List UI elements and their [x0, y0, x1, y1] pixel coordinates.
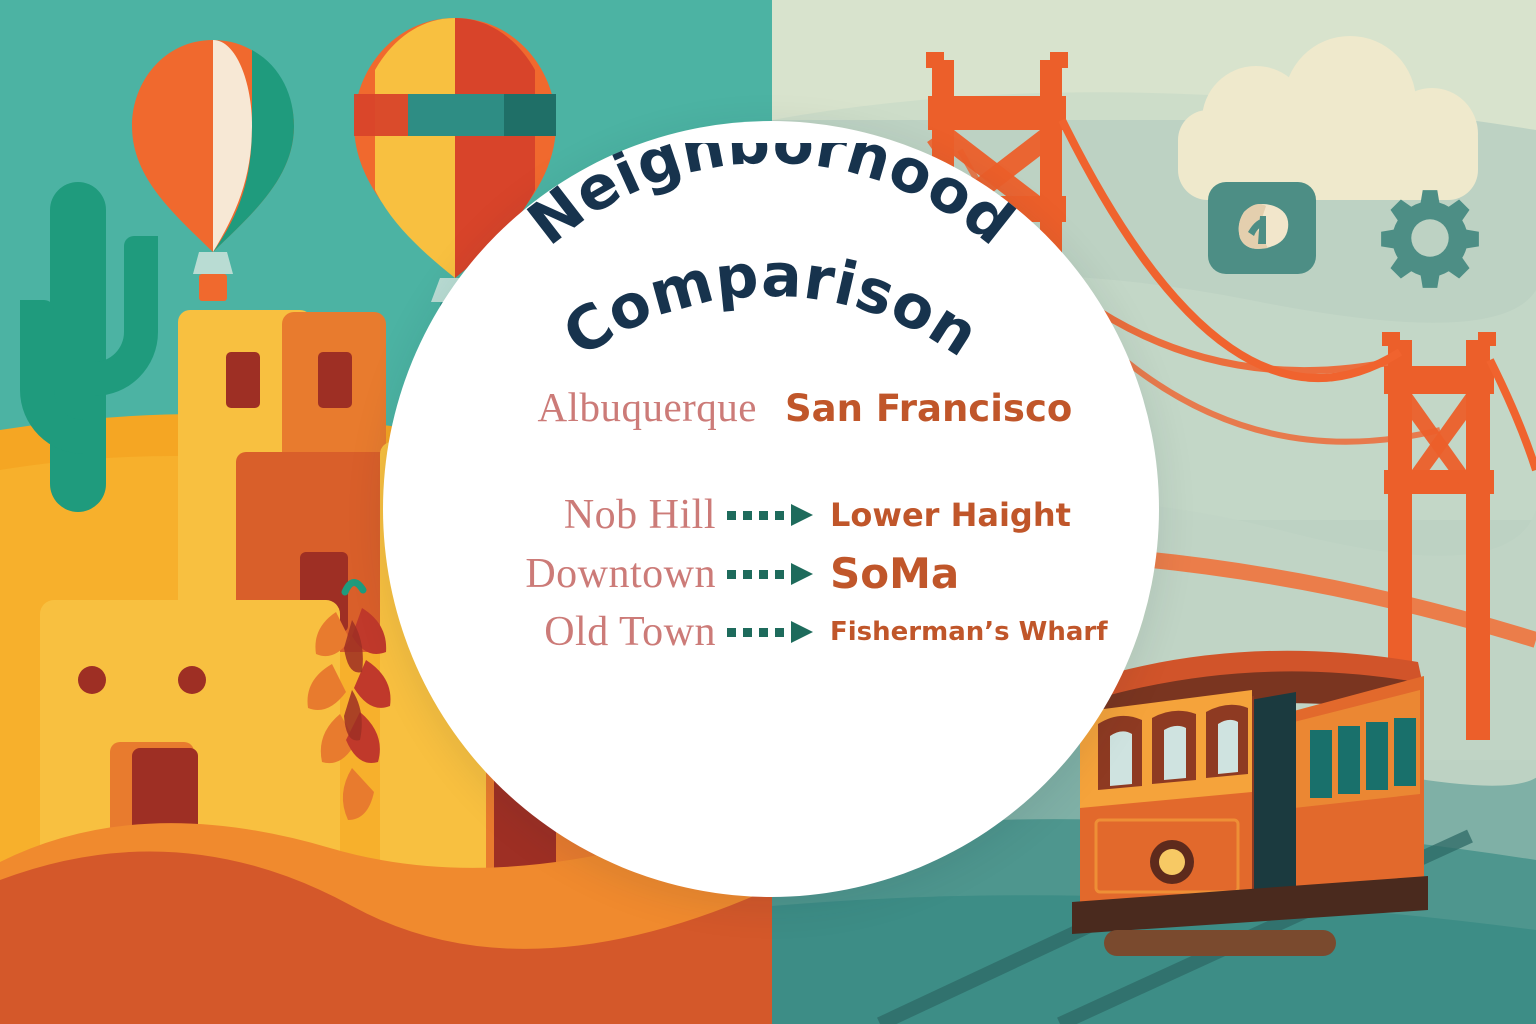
- column-header-right: San Francisco: [771, 387, 1111, 430]
- row-left-label: Old Town: [422, 608, 722, 656]
- comparison-row[interactable]: Nob Hill Lower Haight: [383, 491, 1159, 539]
- gear-icon[interactable]: [1378, 186, 1482, 290]
- page-title: Neighborhood Comparison: [383, 143, 1159, 373]
- dotted-arrow-right-icon: [722, 619, 820, 645]
- comparison-row[interactable]: Downtown SoMa: [383, 549, 1159, 598]
- dotted-arrow-right-icon: [722, 502, 820, 528]
- comparison-row[interactable]: Old Town Fisherman’s Wharf: [383, 608, 1159, 656]
- row-right-label: Fisherman’s Wharf: [820, 617, 1120, 647]
- column-headers: Albuquerque San Francisco: [383, 383, 1159, 431]
- row-right-label: Lower Haight: [820, 496, 1120, 534]
- comparison-rows: Nob Hill Lower Haight Downtown: [383, 491, 1159, 666]
- poster-canvas: Neighborhood Comparison Albuquerque San …: [0, 0, 1536, 1024]
- map-blob-glyph: [1208, 182, 1316, 274]
- cable-car: [1072, 651, 1428, 956]
- dotted-arrow-right-icon: [722, 561, 820, 587]
- row-right-label: SoMa: [820, 549, 1120, 598]
- comparison-card: Neighborhood Comparison Albuquerque San …: [383, 121, 1159, 897]
- svg-text:Comparison: Comparison: [551, 241, 991, 371]
- map-badge-icon[interactable]: [1208, 182, 1316, 274]
- row-left-label: Nob Hill: [422, 491, 722, 539]
- row-left-label: Downtown: [422, 550, 722, 598]
- title-line-2: Comparison: [551, 241, 991, 371]
- column-header-left: Albuquerque: [431, 383, 771, 431]
